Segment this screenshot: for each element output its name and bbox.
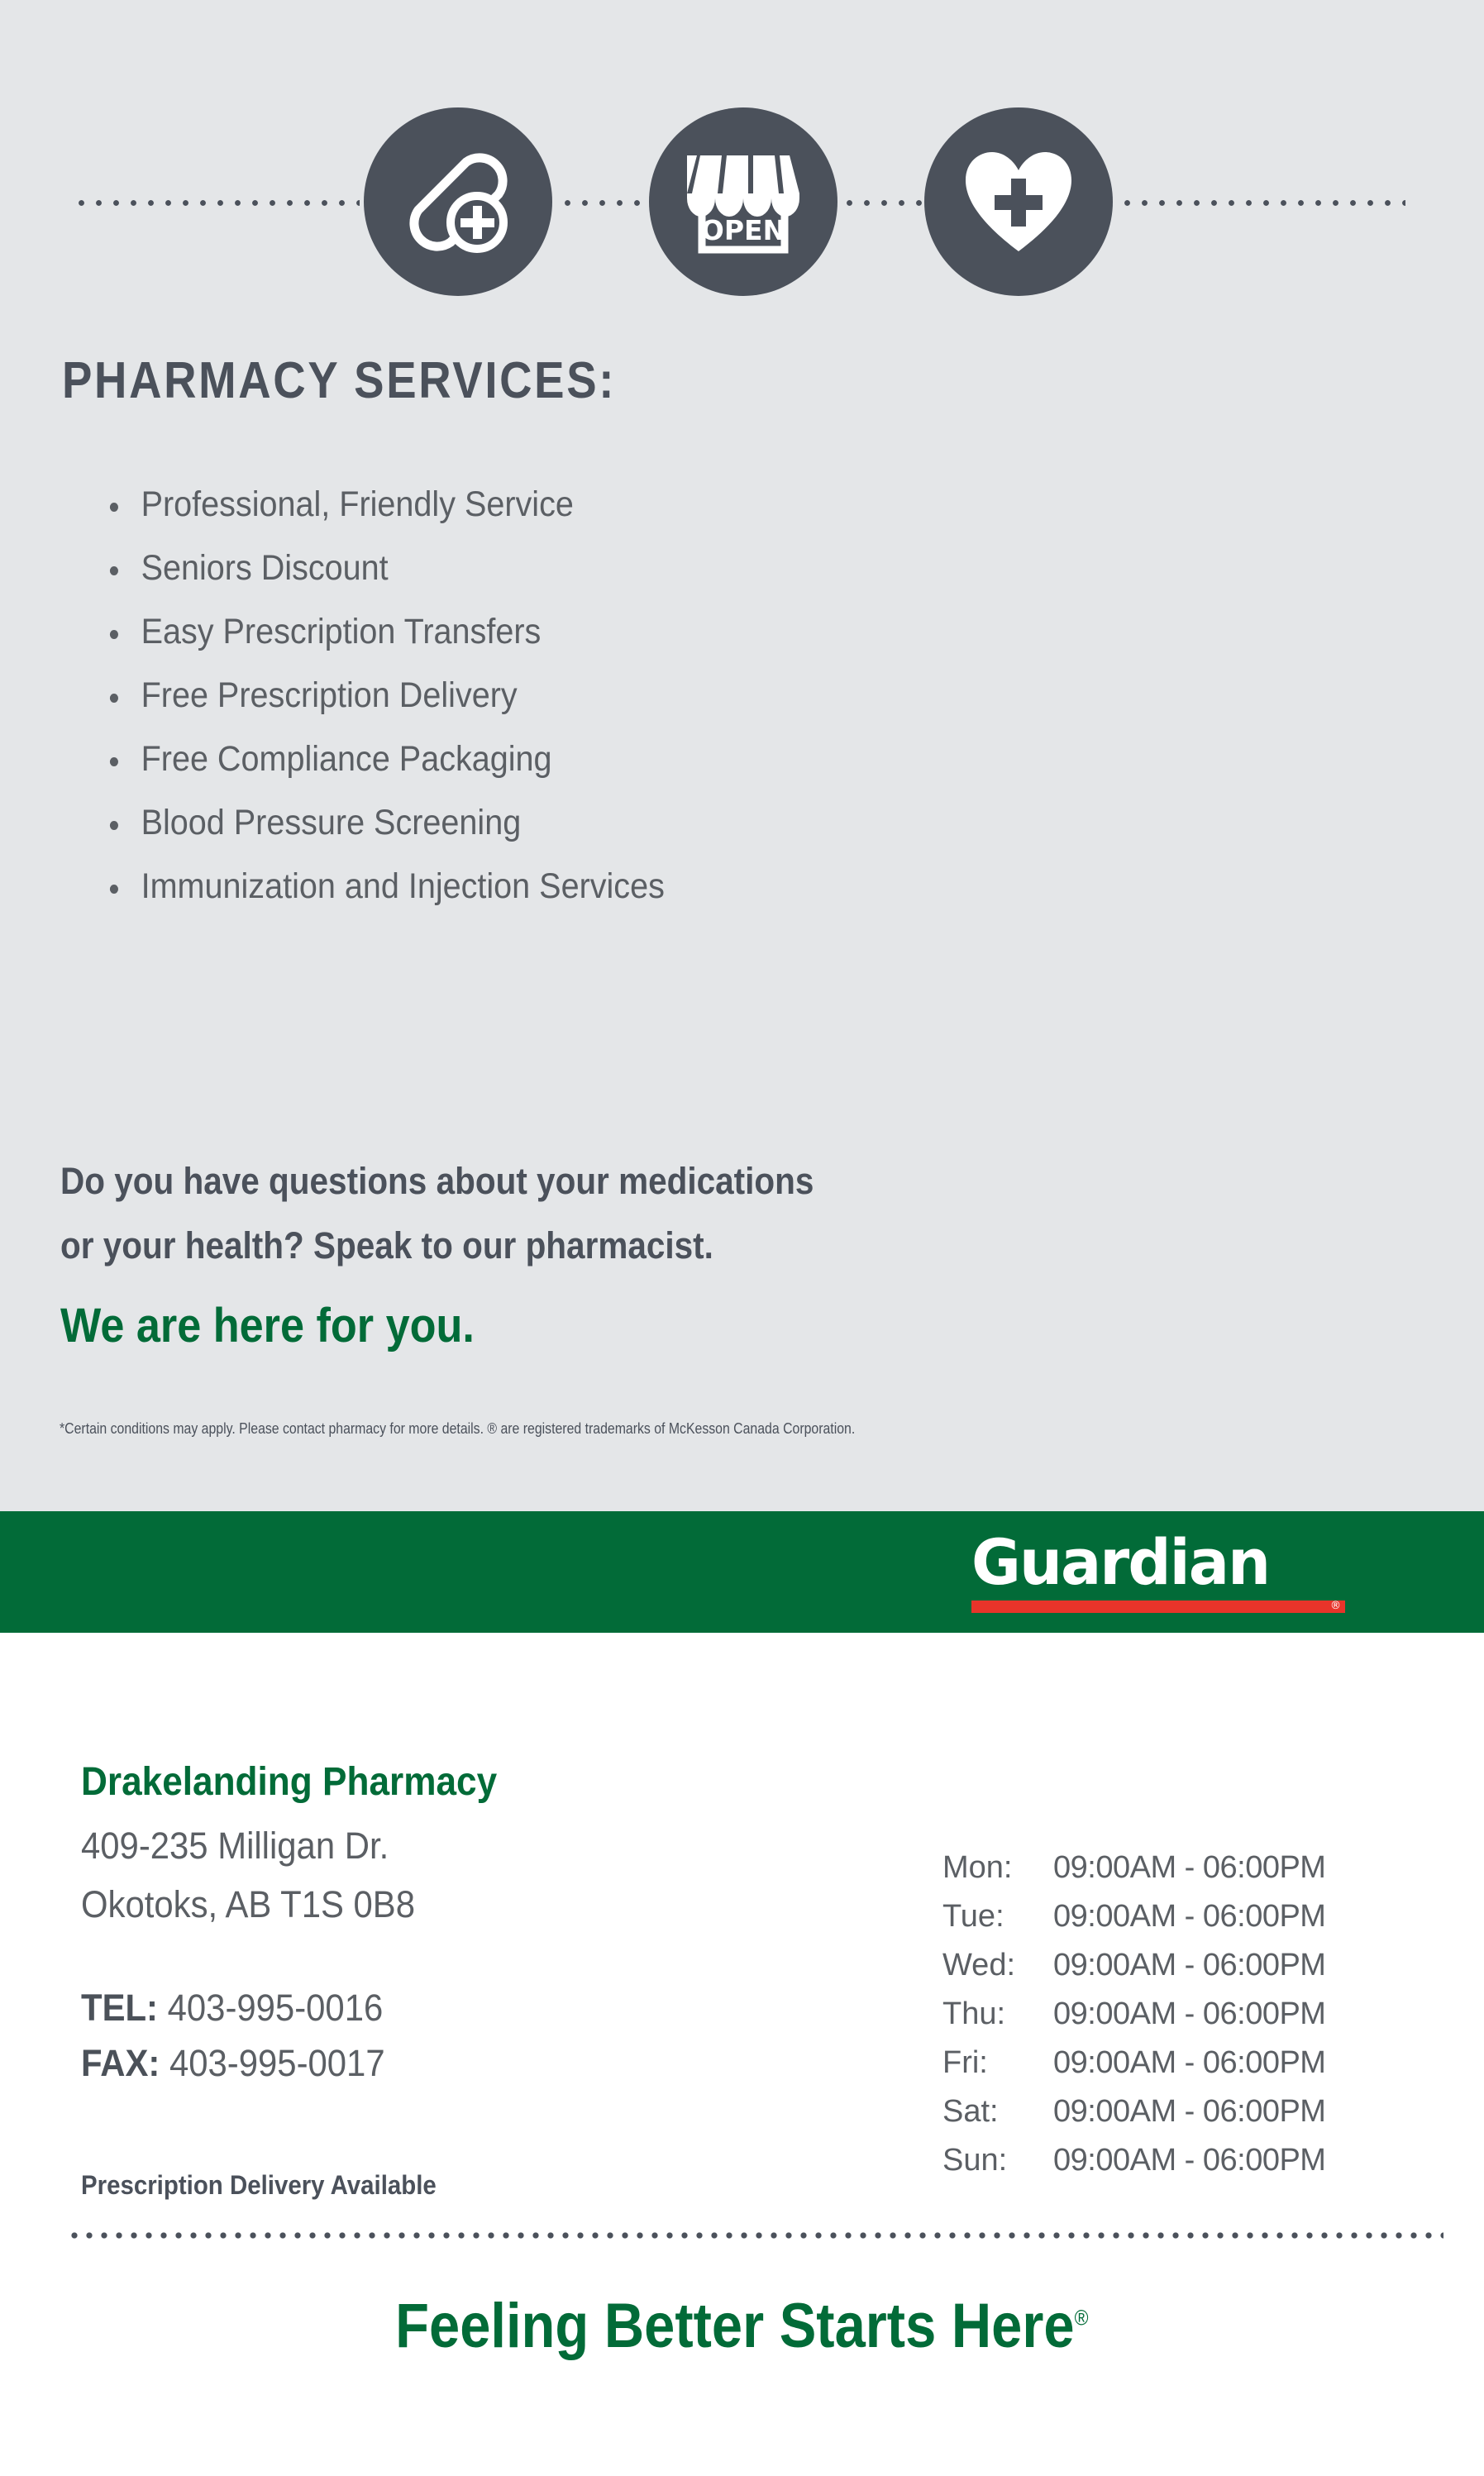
table-row: Sun: 09:00AM - 06:00PM xyxy=(942,2136,1325,2185)
question-block: Do you have questions about your medicat… xyxy=(60,1149,814,1278)
list-item: Free Prescription Delivery xyxy=(99,664,665,728)
dotted-rule-segment-2 xyxy=(565,200,647,206)
list-item: Easy Prescription Transfers xyxy=(99,600,665,664)
hours-day-label: Fri: xyxy=(942,2039,1053,2087)
question-line-1: Do you have questions about your medicat… xyxy=(60,1149,814,1214)
list-item: Professional, Friendly Service xyxy=(99,473,665,537)
dotted-rule-segment-3 xyxy=(847,200,925,206)
guardian-wordmark: Guardian xyxy=(971,1528,1353,1597)
storefront-open-icon-badge: OPEN xyxy=(649,107,837,296)
hours-time-value: 09:00AM - 06:00PM xyxy=(1053,1990,1325,2039)
table-row: Mon: 09:00AM - 06:00PM xyxy=(942,1844,1325,1892)
store-address-line-1: 409-235 Milligan Dr. xyxy=(81,1825,389,1868)
hours-day-label: Wed: xyxy=(942,1941,1053,1990)
tel-value: 403-995-0016 xyxy=(168,1987,384,2029)
hours-time-value: 09:00AM - 06:00PM xyxy=(1053,1892,1325,1941)
list-item: Blood Pressure Screening xyxy=(99,791,665,855)
registered-trademark-mark: ® xyxy=(1330,1600,1341,1612)
hours-time-value: 09:00AM - 06:00PM xyxy=(1053,2039,1325,2087)
store-address-line-2: Okotoks, AB T1S 0B8 xyxy=(81,1883,415,1926)
table-row: Wed: 09:00AM - 06:00PM xyxy=(942,1941,1325,1990)
fax-label: FAX: xyxy=(81,2042,160,2084)
list-item: Immunization and Injection Services xyxy=(99,855,665,918)
legal-disclaimer: *Certain conditions may apply. Please co… xyxy=(60,1420,855,1438)
hours-day-label: Tue: xyxy=(942,1892,1053,1941)
tagline-registered-mark: ® xyxy=(1075,2306,1089,2330)
heart-plus-icon-badge xyxy=(924,107,1113,296)
icon-strip: OPEN xyxy=(0,107,1484,298)
store-hours-table: Mon: 09:00AM - 06:00PM Tue: 09:00AM - 06… xyxy=(942,1844,1325,2185)
hours-time-value: 09:00AM - 06:00PM xyxy=(1053,2087,1325,2136)
tel-label: TEL: xyxy=(81,1987,158,2029)
store-telephone: TEL: 403-995-0016 xyxy=(81,1987,383,2030)
svg-text:OPEN: OPEN xyxy=(701,214,785,246)
services-list: Professional, Friendly Service Seniors D… xyxy=(99,473,713,918)
dotted-divider xyxy=(71,2232,1443,2239)
hours-time-value: 09:00AM - 06:00PM xyxy=(1053,1941,1325,1990)
hours-day-label: Sat: xyxy=(942,2087,1053,2136)
hours-day-label: Thu: xyxy=(942,1990,1053,2039)
delivery-availability-note: Prescription Delivery Available xyxy=(81,2170,437,2201)
hours-time-value: 09:00AM - 06:00PM xyxy=(1053,2136,1325,2185)
fax-value: 403-995-0017 xyxy=(169,2042,385,2084)
table-row: Sat: 09:00AM - 06:00PM xyxy=(942,2087,1325,2136)
dotted-rule-segment-4 xyxy=(1124,200,1405,206)
table-row: Fri: 09:00AM - 06:00PM xyxy=(942,2039,1325,2087)
page-title: PHARMACY SERVICES: xyxy=(62,351,616,410)
here-for-you-headline: We are here for you. xyxy=(60,1298,475,1353)
table-row: Tue: 09:00AM - 06:00PM xyxy=(942,1892,1325,1941)
store-name: Drakelanding Pharmacy xyxy=(81,1759,497,1805)
brand-banner: Guardian ® xyxy=(0,1511,1484,1633)
tagline-text: Feeling Better Starts Here xyxy=(395,2291,1074,2361)
brand-tagline: Feeling Better Starts Here® xyxy=(0,2290,1484,2362)
dotted-rule-segment-1 xyxy=(79,200,360,206)
list-item: Free Compliance Packaging xyxy=(99,728,665,791)
hours-time-value: 09:00AM - 06:00PM xyxy=(1053,1844,1325,1892)
hours-day-label: Mon: xyxy=(942,1844,1053,1892)
table-row: Thu: 09:00AM - 06:00PM xyxy=(942,1990,1325,2039)
list-item: Seniors Discount xyxy=(99,537,665,600)
guardian-logo: Guardian ® xyxy=(971,1528,1368,1613)
services-panel: OPEN PHARMACY SERVICES: Professional, Fr… xyxy=(0,0,1484,1511)
question-line-2: or your health? Speak to our pharmacist. xyxy=(60,1214,814,1278)
guardian-red-rule: ® xyxy=(971,1601,1345,1613)
store-fax: FAX: 403-995-0017 xyxy=(81,2042,385,2085)
hours-day-label: Sun: xyxy=(942,2136,1053,2185)
pill-plus-icon-badge xyxy=(364,107,552,296)
